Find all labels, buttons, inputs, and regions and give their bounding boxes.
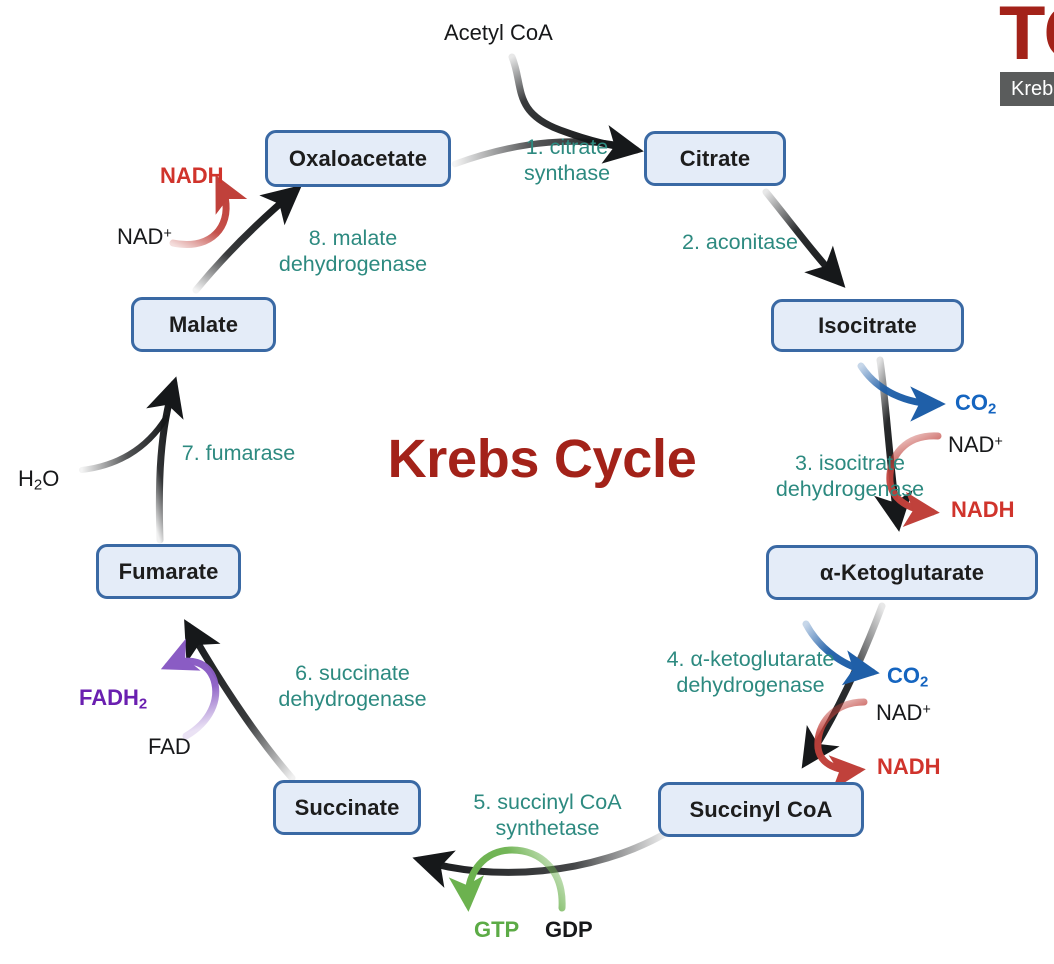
overlay-wordmark: TC xyxy=(999,0,1054,77)
h-text: H xyxy=(18,466,34,491)
nad-charge: + xyxy=(994,434,1002,450)
nad-charge: + xyxy=(922,702,930,718)
metabolite-fumarate[interactable]: Fumarate xyxy=(96,544,241,599)
arc-nad-to-nadh-step8 xyxy=(173,182,226,245)
arc-gdp-to-gtp xyxy=(468,850,562,908)
co2-subscript: 2 xyxy=(920,673,928,690)
label-co2-step4: CO2 xyxy=(887,663,928,690)
co2-text: CO xyxy=(887,663,920,688)
enzyme-label-step-8: 8. malate dehydrogenase xyxy=(268,225,438,277)
enzyme-label-step-7: 7. fumarase xyxy=(166,440,311,466)
krebs-cycle-diagram: Oxaloacetate Citrate Isocitrate α-Ketogl… xyxy=(0,0,1054,964)
o-text: O xyxy=(42,466,59,491)
fadh-text: FADH xyxy=(79,685,139,710)
arc-co2-step3 xyxy=(861,366,938,404)
nad-charge: + xyxy=(163,226,171,242)
metabolite-oxaloacetate[interactable]: Oxaloacetate xyxy=(265,130,451,187)
metabolite-citrate[interactable]: Citrate xyxy=(644,131,786,186)
nad-text: NAD xyxy=(876,700,922,725)
label-nadh-step4: NADH xyxy=(877,754,941,780)
co2-text: CO xyxy=(955,390,988,415)
enzyme-label-step-1: 1. citrate synthase xyxy=(497,134,637,186)
enzyme-label-step-5: 5. succinyl CoA synthetase xyxy=(455,789,640,841)
overlay-tooltip-krebs[interactable]: Krebs xyxy=(1000,72,1054,106)
enzyme-label-step-3: 3. isocitrate dehydrogenase xyxy=(750,450,950,502)
h2o-subscript: 2 xyxy=(34,476,42,493)
label-fadh2: FADH2 xyxy=(79,685,147,712)
enzyme-label-step-4: 4. α-ketoglutarate dehydrogenase xyxy=(638,646,863,698)
label-fad: FAD xyxy=(148,734,191,760)
label-nadh-step8: NADH xyxy=(160,163,224,189)
label-co2-step3: CO2 xyxy=(955,390,996,417)
label-nad-step3: NAD+ xyxy=(948,432,1003,458)
enzyme-label-step-6: 6. succinate dehydrogenase xyxy=(255,660,450,712)
nad-text: NAD xyxy=(117,224,163,249)
label-gtp: GTP xyxy=(474,917,519,943)
metabolite-succinyl-coa[interactable]: Succinyl CoA xyxy=(658,782,864,837)
label-nad-step4: NAD+ xyxy=(876,700,931,726)
arc-fad-to-fadh2 xyxy=(168,661,216,736)
label-nadh-step3: NADH xyxy=(951,497,1015,523)
label-acetyl-coa: Acetyl CoA xyxy=(444,20,553,46)
nad-text: NAD xyxy=(948,432,994,457)
metabolite-alpha-ketoglutarate[interactable]: α-Ketoglutarate xyxy=(766,545,1038,600)
diagram-title: Krebs Cycle xyxy=(352,428,732,490)
metabolite-isocitrate[interactable]: Isocitrate xyxy=(771,299,964,352)
enzyme-label-step-2: 2. aconitase xyxy=(660,229,820,255)
metabolite-malate[interactable]: Malate xyxy=(131,297,276,352)
label-h2o: H2O xyxy=(18,466,59,493)
arrow-h2o-into-fumarase xyxy=(82,418,166,470)
fadh2-subscript: 2 xyxy=(139,695,147,712)
label-nad-step8: NAD+ xyxy=(117,224,172,250)
co2-subscript: 2 xyxy=(988,400,996,417)
metabolite-succinate[interactable]: Succinate xyxy=(273,780,421,835)
label-gdp: GDP xyxy=(545,917,593,943)
